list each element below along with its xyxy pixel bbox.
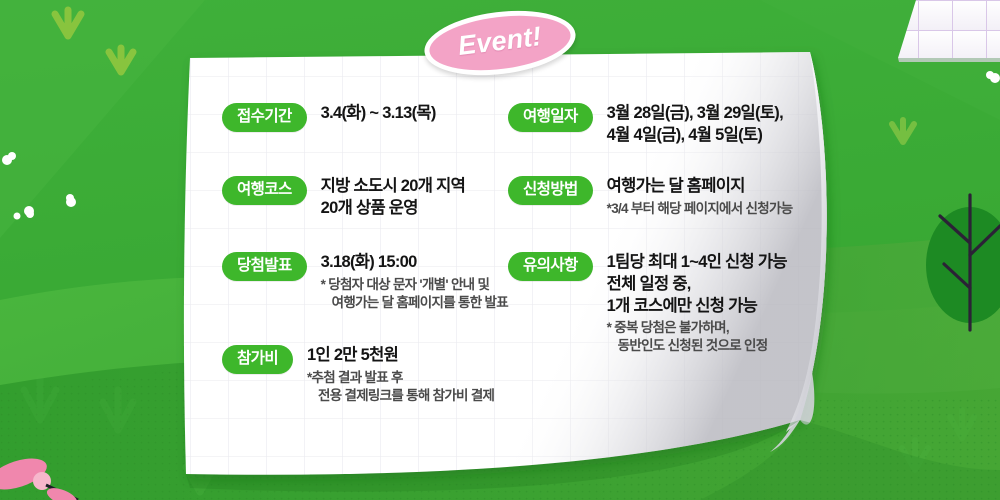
info-row-travel-course: 여행코스 지방 소도시 20개 지역 20개 상품 운영: [222, 176, 465, 220]
participation-fee-main: 1인 2만 5천원: [307, 345, 494, 367]
value-apply-period: 3.4(화) ~ 3.13(목): [321, 103, 436, 125]
value-application-method: 여행가는 달 홈페이지 *3/4 부터 해당 페이지에서 신청가능: [607, 176, 793, 218]
label-participation-fee: 참가비: [222, 345, 293, 374]
value-winner-announcement: 3.18(화) 15:00 * 당첨자 대상 문자 '개별' 안내 및 여행가는…: [321, 252, 508, 311]
notices-sub-1: * 중복 당첨은 불가하며,: [607, 319, 787, 337]
info-row-apply-period: 접수기간 3.4(화) ~ 3.13(목): [222, 103, 436, 132]
application-method-main: 여행가는 달 홈페이지: [607, 176, 793, 198]
promo-banner: Event! 접수기간 3.4(화) ~ 3.13(목) 여행코스 지방 소도시…: [0, 0, 1000, 500]
event-badge-label: Event!: [421, 3, 579, 83]
participation-fee-sub-2: 전용 결제링크를 통해 참가비 결제: [307, 387, 494, 405]
value-travel-course: 지방 소도시 20개 지역 20개 상품 운영: [321, 176, 465, 220]
notices-sub-2: 동반인도 신청된 것으로 인정: [607, 337, 787, 355]
participation-fee-sub-1: *추첨 결과 발표 후: [307, 369, 494, 387]
info-row-winner-announcement: 당첨발표 3.18(화) 15:00 * 당첨자 대상 문자 '개별' 안내 및…: [222, 252, 508, 311]
label-apply-period: 접수기간: [222, 103, 307, 132]
notices-main: 1팀당 최대 1~4인 신청 가능: [607, 252, 787, 274]
label-notices: 유의사항: [508, 252, 593, 281]
travel-dates-main: 3월 28일(금), 3월 29일(토),: [607, 103, 783, 125]
winner-announcement-main: 3.18(화) 15:00: [321, 252, 508, 274]
travel-dates-main2: 4월 4일(금), 4월 5일(토): [607, 125, 783, 147]
label-application-method: 신청방법: [508, 176, 593, 205]
value-notices: 1팀당 최대 1~4인 신청 가능 전체 일정 중, 1개 코스에만 신청 가능…: [607, 252, 787, 355]
label-winner-announcement: 당첨발표: [222, 252, 307, 281]
event-badge: Event!: [421, 3, 579, 83]
value-travel-dates: 3월 28일(금), 3월 29일(토), 4월 4일(금), 4월 5일(토): [607, 103, 783, 147]
info-row-participation-fee: 참가비 1인 2만 5천원 *추첨 결과 발표 후 전용 결제링크를 통해 참가…: [222, 345, 494, 404]
event-details: Event! 접수기간 3.4(화) ~ 3.13(목) 여행코스 지방 소도시…: [0, 0, 1000, 500]
label-travel-dates: 여행일자: [508, 103, 593, 132]
notices-main2: 전체 일정 중,: [607, 274, 787, 296]
travel-course-main2: 20개 상품 운영: [321, 198, 465, 220]
notices-main3: 1개 코스에만 신청 가능: [607, 296, 787, 318]
label-travel-course: 여행코스: [222, 176, 307, 205]
travel-course-main: 지방 소도시 20개 지역: [321, 176, 465, 198]
apply-period-main: 3.4(화) ~ 3.13(목): [321, 103, 436, 125]
value-participation-fee: 1인 2만 5천원 *추첨 결과 발표 후 전용 결제링크를 통해 참가비 결제: [307, 345, 494, 404]
winner-announcement-sub-1: * 당첨자 대상 문자 '개별' 안내 및: [321, 276, 508, 294]
application-method-sub-1: *3/4 부터 해당 페이지에서 신청가능: [607, 200, 793, 218]
info-row-notices: 유의사항 1팀당 최대 1~4인 신청 가능 전체 일정 중, 1개 코스에만 …: [508, 252, 787, 355]
winner-announcement-sub-2: 여행가는 달 홈페이지를 통한 발표: [321, 294, 508, 312]
info-row-travel-dates: 여행일자 3월 28일(금), 3월 29일(토), 4월 4일(금), 4월 …: [508, 103, 783, 147]
info-row-application-method: 신청방법 여행가는 달 홈페이지 *3/4 부터 해당 페이지에서 신청가능: [508, 176, 792, 218]
